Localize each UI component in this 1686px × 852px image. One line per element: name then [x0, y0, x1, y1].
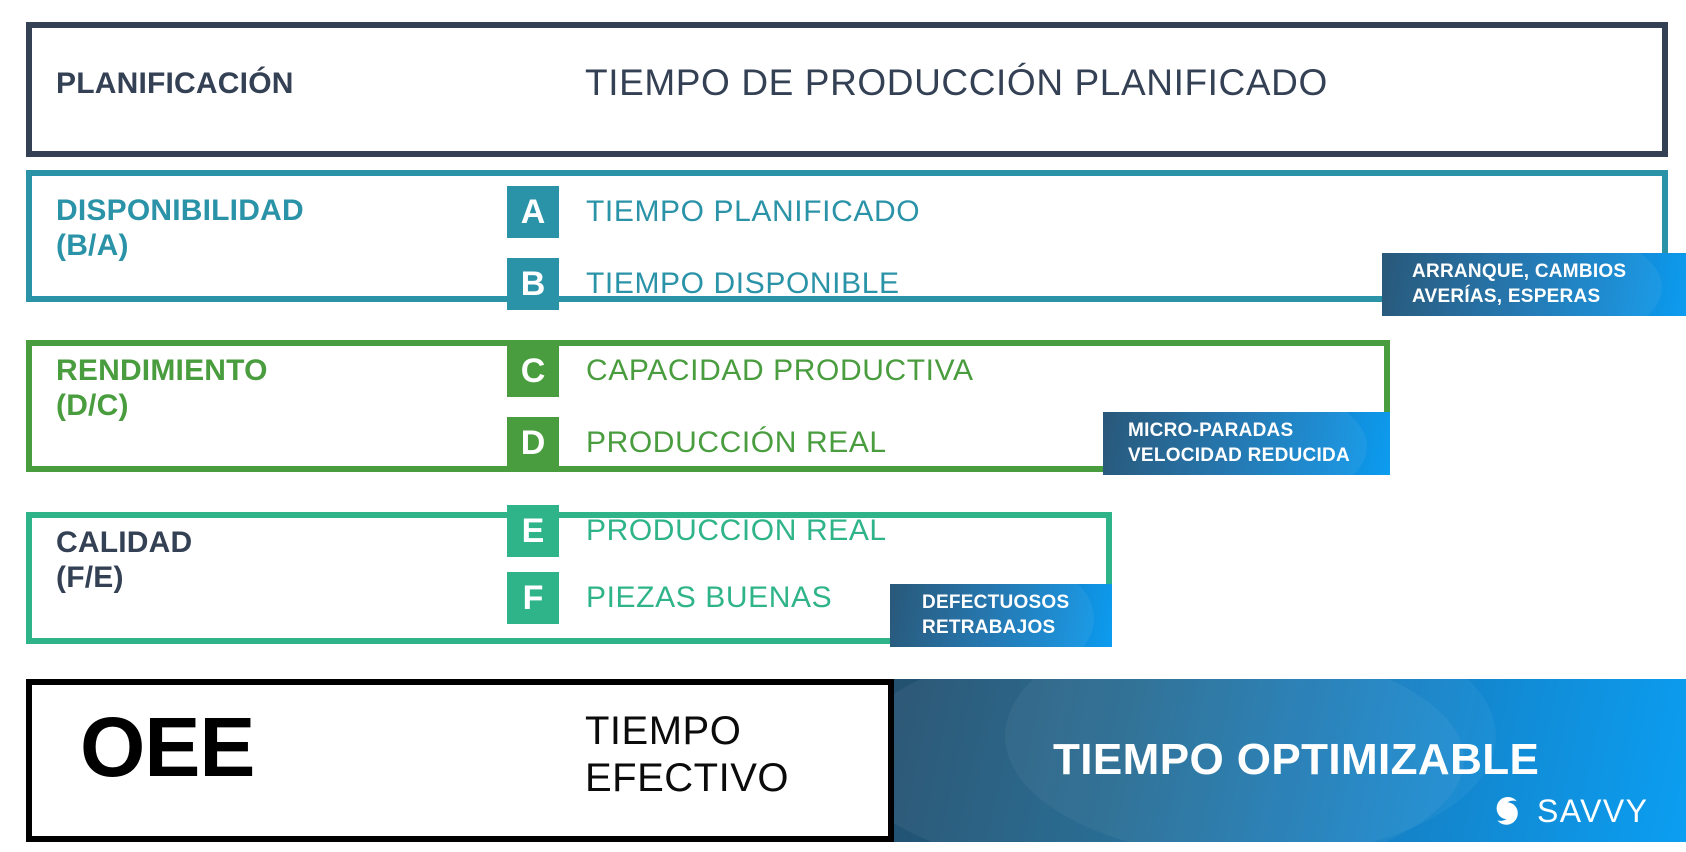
letter-chip-b: B	[507, 258, 559, 310]
item-label-e: PRODUCCIÓN REAL	[586, 514, 887, 548]
savvy-logo: SAVVY	[1494, 794, 1648, 828]
loss-badge-calidad: DEFECTUOSOS RETRABAJOS	[890, 584, 1112, 647]
category-label-calidad: CALIDAD (F/E)	[56, 525, 192, 596]
item-b: B TIEMPO DISPONIBLE	[507, 258, 900, 310]
letter-chip-f: F	[507, 572, 559, 624]
category-label-disponibilidad: DISPONIBILIDAD (B/A)	[56, 193, 304, 264]
loss-badge-disponibilidad: ARRANQUE, CAMBIOS AVERÍAS, ESPERAS	[1382, 253, 1686, 316]
category-label-rendimiento: RENDIMIENTO (D/C)	[56, 353, 268, 424]
letter-chip-a: A	[507, 186, 559, 238]
effective-time-label: TIEMPO EFECTIVO	[585, 708, 789, 802]
optimizable-time-label: TIEMPO OPTIMIZABLE	[1053, 738, 1539, 782]
savvy-s-mark-icon	[1494, 794, 1528, 828]
oee-label: OEE	[80, 705, 254, 789]
letter-chip-e: E	[507, 505, 559, 557]
savvy-wordmark: SAVVY	[1537, 795, 1648, 827]
loss-badge-rendimiento-text: MICRO-PARADAS VELOCIDAD REDUCIDA	[1128, 419, 1350, 468]
item-label-c: CAPACIDAD PRODUCTIVA	[586, 354, 974, 388]
item-a: A TIEMPO PLANIFICADO	[507, 186, 920, 238]
item-c: C CAPACIDAD PRODUCTIVA	[507, 345, 974, 397]
item-label-b: TIEMPO DISPONIBLE	[586, 267, 900, 301]
loss-badge-rendimiento: MICRO-PARADAS VELOCIDAD REDUCIDA	[1103, 412, 1390, 475]
letter-chip-d: D	[507, 417, 559, 469]
loss-badge-disponibilidad-text: ARRANQUE, CAMBIOS AVERÍAS, ESPERAS	[1412, 260, 1626, 309]
loss-badge-calidad-text: DEFECTUOSOS RETRABAJOS	[922, 591, 1069, 640]
planned-production-time-headline: TIEMPO DE PRODUCCIÓN PLANIFICADO	[585, 62, 1328, 104]
letter-chip-c: C	[507, 345, 559, 397]
item-d: D PRODUCCIÓN REAL	[507, 417, 887, 469]
item-f: F PIEZAS BUENAS	[507, 572, 832, 624]
item-e: E PRODUCCIÓN REAL	[507, 505, 887, 557]
item-label-f: PIEZAS BUENAS	[586, 581, 832, 615]
oee-diagram: PLANIFICACIÓN TIEMPO DE PRODUCCIÓN PLANI…	[0, 0, 1686, 852]
item-label-d: PRODUCCIÓN REAL	[586, 426, 887, 460]
item-label-a: TIEMPO PLANIFICADO	[586, 195, 920, 229]
category-label-planificacion: PLANIFICACIÓN	[56, 66, 294, 101]
